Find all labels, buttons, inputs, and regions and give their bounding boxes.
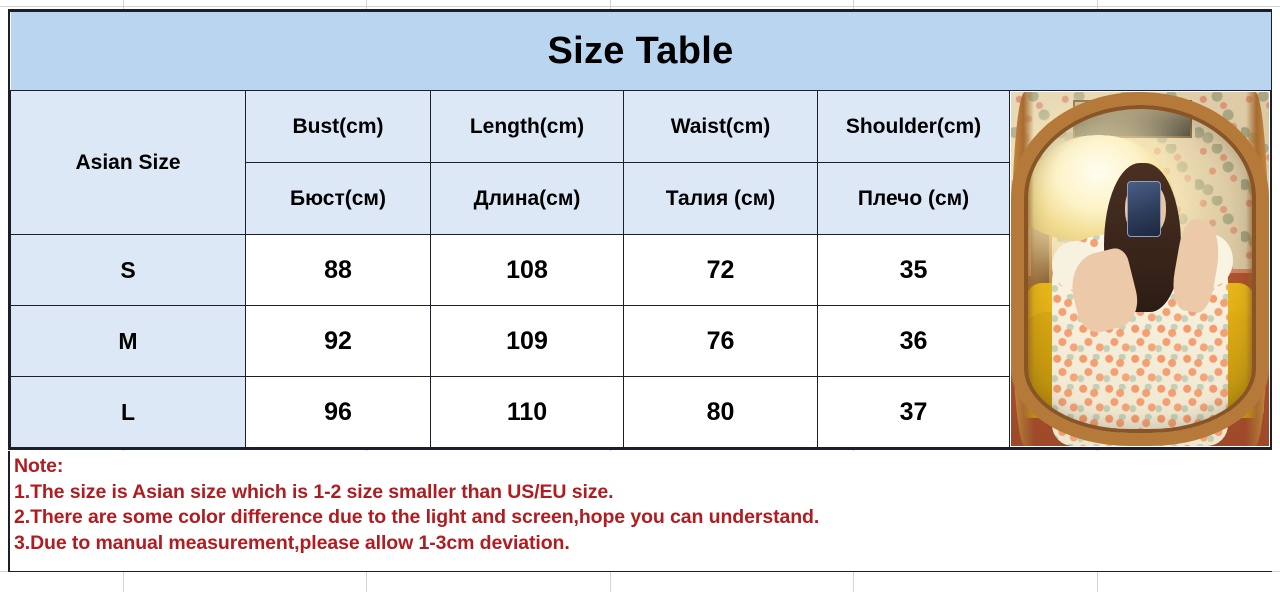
column-header-waist-ru: Талия (см) xyxy=(624,163,818,235)
column-header-bust-ru: Бюст(см) xyxy=(246,163,431,235)
cell-s-length: 108 xyxy=(431,235,624,306)
note-heading: Note: xyxy=(14,454,1272,480)
column-header-length-en: Length(cm) xyxy=(431,91,624,163)
note-line-1: 1.The size is Asian size which is 1-2 si… xyxy=(14,480,1272,506)
column-header-length-ru: Длина(см) xyxy=(431,163,624,235)
spreadsheet-canvas: Size Table Asian Size Bust(cm) Length(cm… xyxy=(0,0,1280,592)
size-table: Size Table Asian Size Bust(cm) Length(cm… xyxy=(10,12,1271,448)
product-photo-cell xyxy=(1010,91,1271,448)
cell-l-shoulder: 37 xyxy=(818,377,1010,448)
size-label-m: M xyxy=(11,306,246,377)
size-table-block: Size Table Asian Size Bust(cm) Length(cm… xyxy=(8,9,1272,450)
size-label-s: S xyxy=(11,235,246,306)
column-header-bust-en: Bust(cm) xyxy=(246,91,431,163)
cell-l-length: 110 xyxy=(431,377,624,448)
asian-size-header: Asian Size xyxy=(11,91,246,235)
cell-m-bust: 92 xyxy=(246,306,431,377)
note-line-3: 3.Due to manual measurement,please allow… xyxy=(14,531,1272,557)
title-row: Size Table xyxy=(11,12,1271,91)
cell-s-shoulder: 35 xyxy=(818,235,1010,306)
column-header-shoulder-ru: Плечо (см) xyxy=(818,163,1010,235)
mirror-frame xyxy=(1011,92,1269,446)
cell-m-length: 109 xyxy=(431,306,624,377)
cell-l-waist: 80 xyxy=(624,377,818,448)
header-row-english: Asian Size Bust(cm) Length(cm) Waist(cm)… xyxy=(11,91,1271,163)
column-header-waist-en: Waist(cm) xyxy=(624,91,818,163)
cell-m-waist: 76 xyxy=(624,306,818,377)
page-title: Size Table xyxy=(11,12,1271,91)
size-label-l: L xyxy=(11,377,246,448)
cell-s-waist: 72 xyxy=(624,235,818,306)
cell-l-bust: 96 xyxy=(246,377,431,448)
cell-s-bust: 88 xyxy=(246,235,431,306)
product-photo xyxy=(1011,92,1269,446)
note-section: Note: 1.The size is Asian size which is … xyxy=(8,451,1272,572)
column-header-shoulder-en: Shoulder(cm) xyxy=(818,91,1010,163)
note-line-2: 2.There are some color difference due to… xyxy=(14,505,1272,531)
cell-m-shoulder: 36 xyxy=(818,306,1010,377)
